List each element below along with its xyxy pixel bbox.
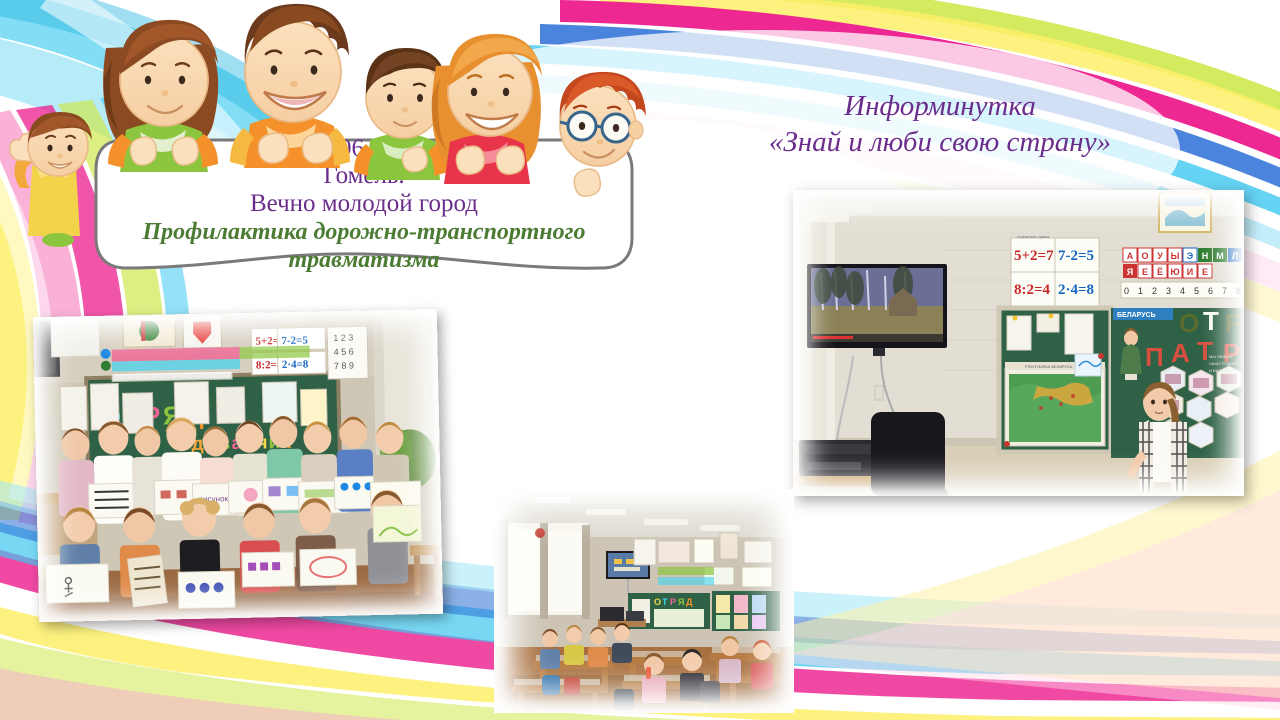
svg-text:О: О <box>654 597 661 607</box>
svg-text:Д: Д <box>686 597 693 607</box>
svg-text:7: 7 <box>1222 286 1227 296</box>
svg-text:1: 1 <box>1138 286 1143 296</box>
svg-text:Е: Е <box>1202 267 1208 277</box>
slide-canvas: О Т Р Я Д О д у в а н ч и к <box>0 0 1280 720</box>
svg-text:0: 0 <box>1124 286 1129 296</box>
svg-text:8: 8 <box>1236 286 1241 296</box>
svg-text:Ё: Ё <box>1157 267 1163 277</box>
child-boy-waving <box>10 112 92 247</box>
svg-text:Ы: Ы <box>1171 251 1180 261</box>
svg-text:1 2 3: 1 2 3 <box>333 333 353 343</box>
photo-classroom-wide: ОТ РЯ Д <box>494 489 794 713</box>
svg-text:М: М <box>1216 251 1224 261</box>
child-girl-ginger-red <box>432 34 542 184</box>
svg-text:5: 5 <box>1194 286 1199 296</box>
svg-text:А: А <box>1171 338 1190 368</box>
svg-text:БЕЛАРУСЬ: БЕЛАРУСЬ <box>1117 312 1156 319</box>
cartoon-children-clipart <box>0 0 700 300</box>
svg-text:МЫ ЛЮБИМ: МЫ ЛЮБИМ <box>1209 354 1232 359</box>
svg-text:Л: Л <box>1232 251 1238 261</box>
svg-text:3: 3 <box>1166 286 1171 296</box>
svg-text:2·4=8: 2·4=8 <box>1058 282 1094 298</box>
svg-text:7-2=5: 7-2=5 <box>281 335 308 348</box>
svg-text:2·4=8: 2·4=8 <box>282 358 309 371</box>
svg-text:5+2=7: 5+2=7 <box>1014 248 1054 264</box>
svg-text:Е: Е <box>1142 267 1148 277</box>
svg-text:Ю: Ю <box>1170 267 1179 277</box>
svg-text:Т: Т <box>1203 306 1219 336</box>
svg-text:П: П <box>1145 342 1164 372</box>
child-girl-brown-green <box>103 20 218 172</box>
svg-text:6: 6 <box>1208 286 1213 296</box>
svg-text:2: 2 <box>1152 286 1157 296</box>
svg-text:8:2=4: 8:2=4 <box>1014 282 1051 298</box>
child-boy-big-smile <box>230 4 350 168</box>
photo-classroom-tv-map: 5+2=7 слагаемое сумма 7-2=5 8:2=4 2·4=8 … <box>793 190 1244 496</box>
svg-text:И БЕРЕЖЁМ: И БЕРЕЖЁМ <box>1209 368 1233 373</box>
svg-text:Н: Н <box>1202 251 1209 261</box>
svg-text:Т: Т <box>662 597 668 607</box>
svg-text:4 5 6: 4 5 6 <box>334 347 354 357</box>
svg-text:РЭСПУБЛІКА БЕЛАРУСЬ: РЭСПУБЛІКА БЕЛАРУСЬ <box>1025 364 1073 369</box>
svg-text:Р: Р <box>670 597 676 607</box>
svg-text:НАШУ РОДИНУ: НАШУ РОДИНУ <box>1209 361 1239 366</box>
title-line-1: Информинутка <box>640 88 1240 124</box>
svg-text:слагаемое сумма: слагаемое сумма <box>1017 234 1050 239</box>
svg-text:А: А <box>1127 251 1134 261</box>
slide-title: Информинутка «Знай и люби свою страну» <box>640 88 1240 160</box>
svg-text:И: И <box>1187 267 1193 277</box>
svg-text:Я: Я <box>1127 267 1133 277</box>
svg-text:О: О <box>1141 251 1148 261</box>
svg-text:У: У <box>1157 251 1163 261</box>
svg-text:Э: Э <box>1187 251 1194 261</box>
title-line-2: «Знай и люби свою страну» <box>640 124 1240 160</box>
svg-text:Я: Я <box>678 597 684 607</box>
svg-text:7-2=5: 7-2=5 <box>1058 248 1094 264</box>
child-boy-glasses <box>560 72 646 196</box>
svg-text:О: О <box>1179 308 1199 338</box>
svg-text:7 8 9: 7 8 9 <box>334 361 354 371</box>
svg-text:Р: Р <box>1225 308 1242 338</box>
svg-text:4: 4 <box>1180 286 1185 296</box>
photo-group-of-pupils: О Т Р Я Д О д у в а н ч и к <box>33 309 443 622</box>
